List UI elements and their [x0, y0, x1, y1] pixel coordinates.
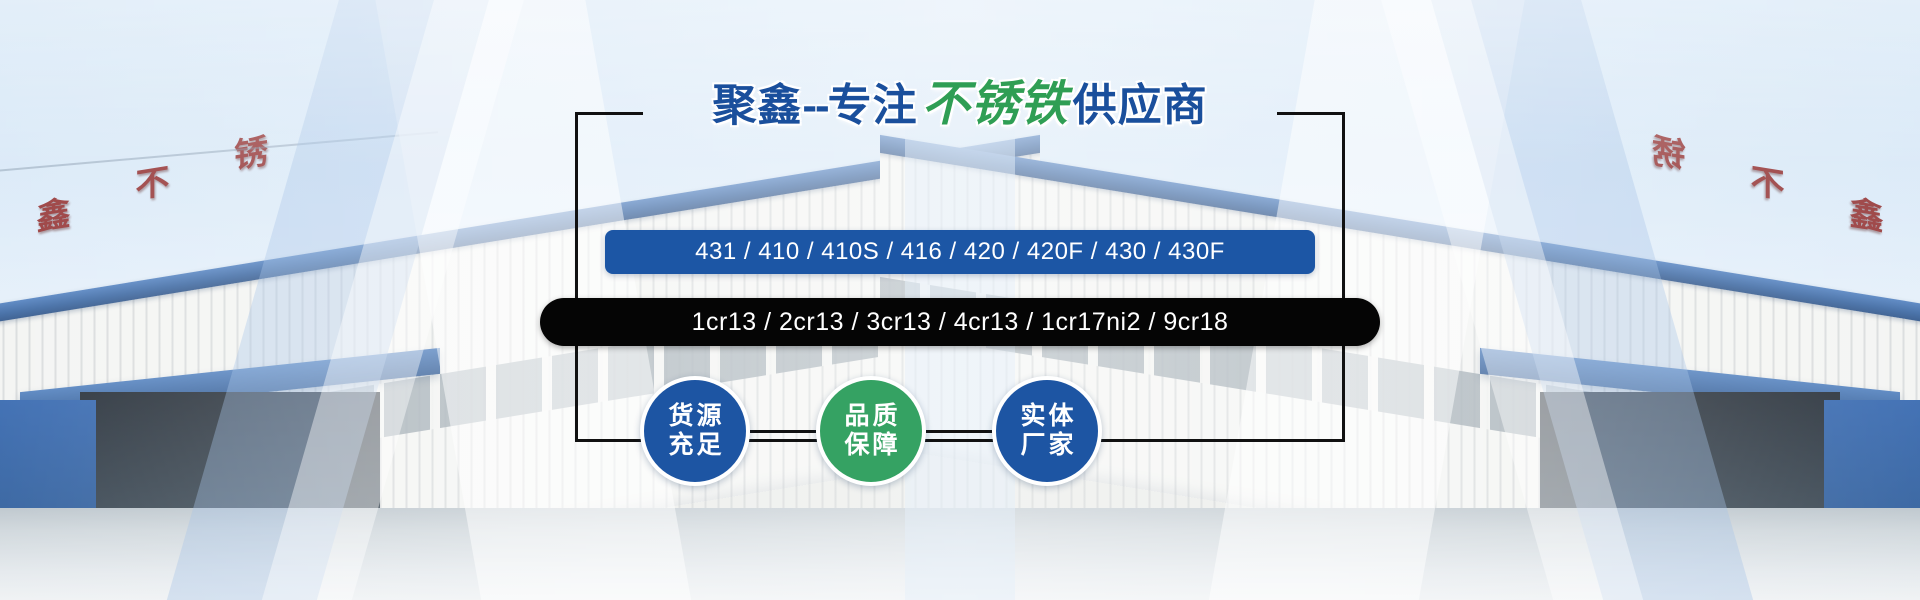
headline-supplier: 供应商: [1073, 81, 1208, 130]
grade-list-primary: 431 / 410 / 410S / 416 / 420 / 420F / 43…: [605, 230, 1315, 274]
banner-headline: 聚鑫--专注不锈铁供应商: [575, 80, 1345, 128]
feature-badge-factory-line2: 厂家: [1017, 431, 1076, 460]
feature-badge-quality-line1: 品质: [841, 402, 900, 431]
headline-dash: --: [802, 81, 827, 130]
grade-list-secondary: 1cr13 / 2cr13 / 3cr13 / 4cr13 / 1cr17ni2…: [540, 298, 1380, 346]
feature-badge-row: 货源 充足 品质 保障 实体 厂家: [640, 376, 1280, 496]
feature-badge-quality-line2: 保障: [841, 431, 900, 460]
feature-badge-supply-line2: 充足: [665, 431, 724, 460]
feature-badge-quality: 品质 保障: [816, 376, 926, 486]
frame-connector-left: [750, 430, 816, 433]
feature-badge-supply: 货源 充足: [640, 376, 750, 486]
feature-badge-factory-line1: 实体: [1017, 402, 1076, 431]
headline-brand: 聚鑫: [712, 81, 802, 130]
promo-banner: 聚 鑫 不 锈 聚 鑫 不 锈: [0, 0, 1920, 600]
feature-badge-factory: 实体 厂家: [992, 376, 1102, 486]
headline-highlight: 不锈铁: [918, 76, 1073, 132]
feature-badge-supply-line1: 货源: [665, 402, 724, 431]
banner-content: 聚鑫--专注不锈铁供应商 431 / 410 / 410S / 416 / 42…: [0, 0, 1920, 600]
frame-connector-right: [926, 430, 992, 433]
headline-focus: 专注: [828, 81, 918, 130]
